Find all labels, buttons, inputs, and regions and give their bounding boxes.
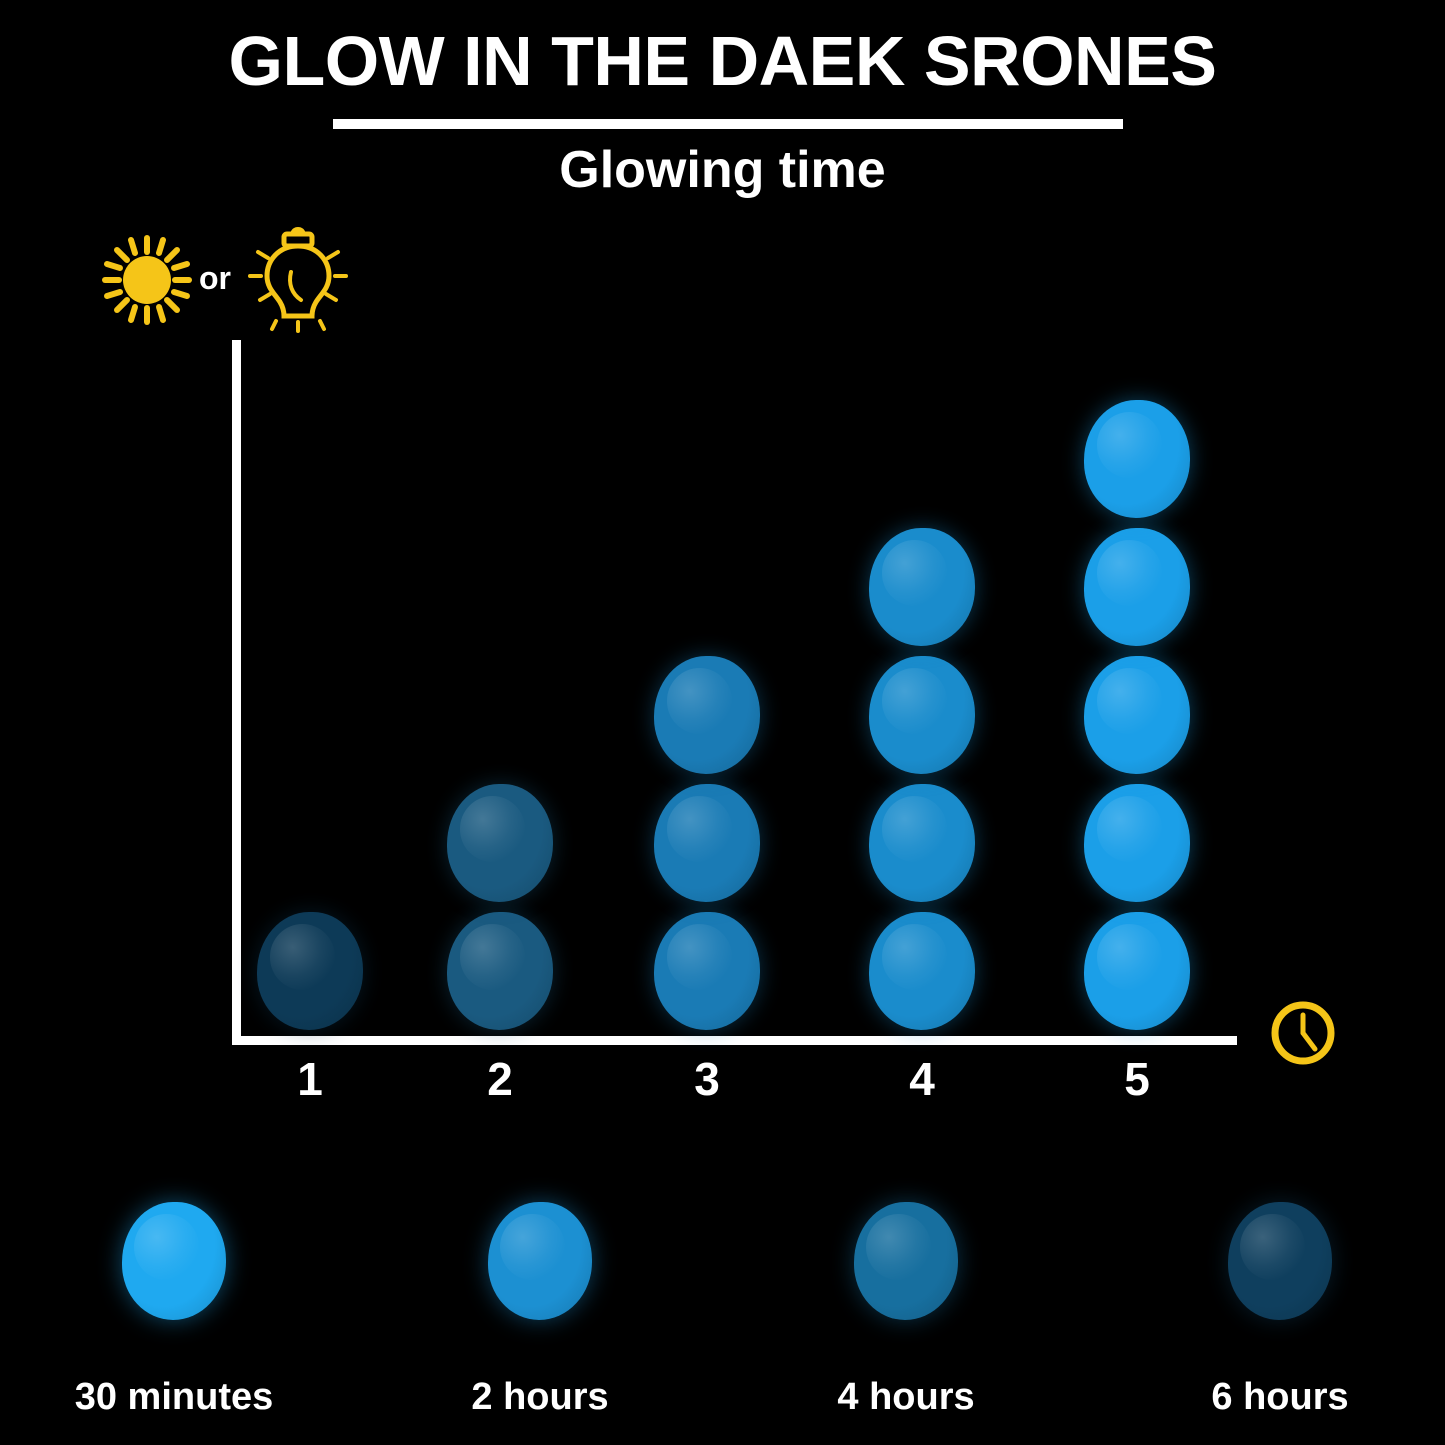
legend-stone-1 [122, 1202, 226, 1320]
page-title: GLOW IN THE DAEK SRONES [0, 26, 1445, 97]
light-source-row: or [96, 224, 366, 334]
x-tick-label-2: 2 [460, 1056, 540, 1102]
stone-pictogram [1084, 528, 1190, 646]
x-tick-label-1: 1 [270, 1056, 350, 1102]
stone-pictogram [1084, 656, 1190, 774]
y-axis-line [232, 340, 241, 1045]
stone-pictogram [1084, 400, 1190, 518]
legend-label-6-hours: 6 hours [1110, 1378, 1445, 1416]
legend-label-2-hours: 2 hours [370, 1378, 710, 1416]
poster-root: GLOW IN THE DAEK SRONES Glowing time [0, 0, 1445, 1445]
stone-pictogram [257, 912, 363, 1030]
stone-pictogram [869, 784, 975, 902]
x-tick-label-5: 5 [1097, 1056, 1177, 1102]
clock-icon [1265, 995, 1341, 1071]
or-label: or [199, 262, 231, 294]
legend-stone-4 [1228, 1202, 1332, 1320]
legend-stone-2 [488, 1202, 592, 1320]
stone-pictogram [1084, 912, 1190, 1030]
light-bulb-icon [246, 224, 350, 334]
stone-pictogram [447, 784, 553, 902]
stone-pictogram [654, 912, 760, 1030]
stone-pictogram [447, 912, 553, 1030]
legend-label-30-minutes: 30 minutes [4, 1378, 344, 1416]
stone-pictogram [1084, 784, 1190, 902]
legend-label-4-hours: 4 hours [736, 1378, 1076, 1416]
stone-pictogram [869, 528, 975, 646]
stone-pictogram [869, 912, 975, 1030]
stone-pictogram [869, 656, 975, 774]
stone-pictogram [654, 656, 760, 774]
legend-stone-3 [854, 1202, 958, 1320]
title-divider [333, 119, 1123, 129]
stone-pictogram [654, 784, 760, 902]
x-axis-line [232, 1036, 1237, 1045]
sun-icon [96, 232, 198, 328]
page-subtitle: Glowing time [0, 142, 1445, 199]
x-tick-label-3: 3 [667, 1056, 747, 1102]
x-tick-label-4: 4 [882, 1056, 962, 1102]
